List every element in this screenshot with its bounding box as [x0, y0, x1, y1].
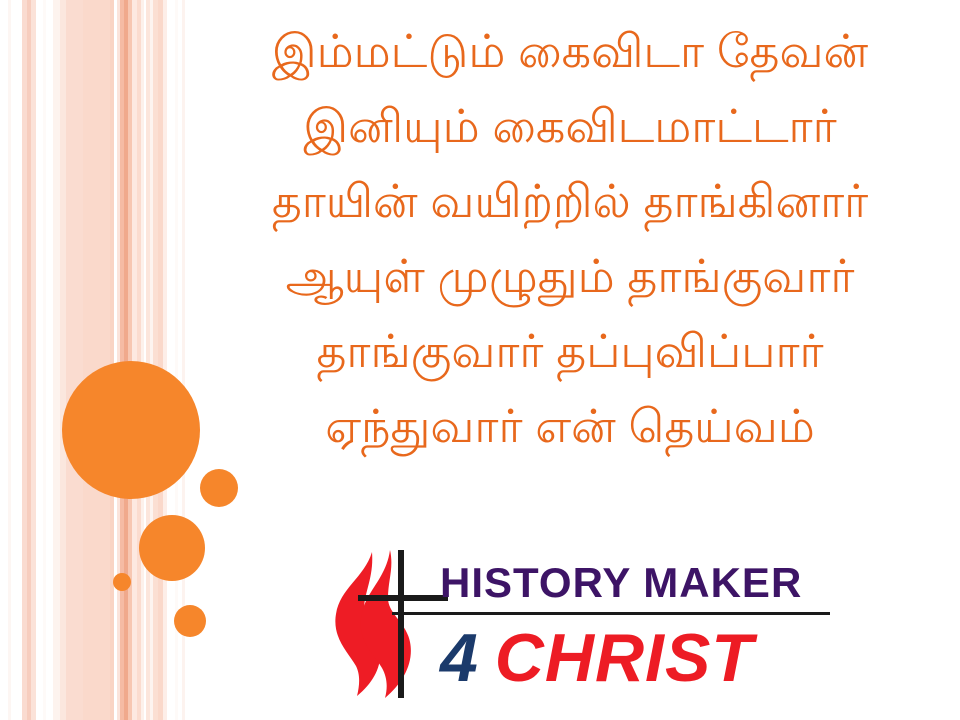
logo-history-maker-text: HISTORY MAKER [440, 556, 830, 610]
stripe-decoration [0, 0, 180, 720]
stripe-3 [31, 0, 36, 720]
stripe-0 [8, 0, 11, 720]
lyric-line-1: இம்மட்டும் கைவிடா தேவன் [180, 14, 960, 89]
stripe-8 [83, 0, 110, 720]
stripe-22 [175, 0, 178, 720]
stripe-16 [141, 0, 144, 720]
stripe-5 [53, 0, 60, 720]
stripe-4 [43, 0, 46, 720]
lyric-line-4: ஆயுள் முழுதும் தாங்குவார் [180, 239, 960, 314]
logo-christ-word: CHRIST [495, 620, 754, 696]
logo-4-christ-text: 4 CHRIST [440, 618, 830, 698]
lyric-line-2: இனியும் கைவிடமாட்டார் [180, 89, 960, 164]
stripe-9 [110, 0, 114, 720]
lyrics-block: இம்மட்டும் கைவிடா தேவன் இனியும் கைவிடமாட… [180, 14, 960, 464]
stripe-7 [66, 0, 83, 720]
small-circle-right [200, 469, 238, 507]
cross-and-flame-icon [330, 548, 448, 700]
history-maker-4-christ-logo: HISTORY MAKER 4 CHRIST [330, 548, 830, 700]
stripe-21 [163, 0, 167, 720]
logo-number-4: 4 [440, 620, 477, 696]
presentation-slide: இம்மட்டும் கைவிடா தேவன் இனியும் கைவிடமாட… [0, 0, 960, 720]
lyric-line-6: ஏந்துவார் என் தெய்வம் [180, 389, 960, 464]
logo-wordmark: HISTORY MAKER 4 CHRIST [440, 548, 830, 700]
lyric-line-5: தாங்குவார் தப்புவிப்பார் [180, 314, 960, 389]
lyric-line-3: தாயின் வயிற்றில் தாங்கினார் [180, 164, 960, 239]
logo-divider-rule [392, 612, 830, 615]
